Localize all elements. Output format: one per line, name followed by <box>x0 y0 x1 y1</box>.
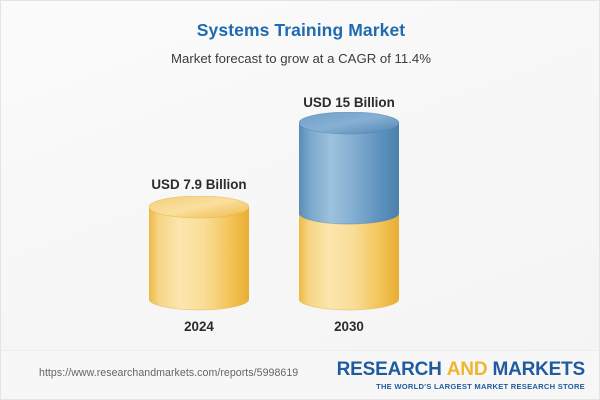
axis-label-2030: 2030 <box>274 319 424 334</box>
brand-logo-part-and: AND <box>447 359 488 380</box>
chart-plot-area: USD 7.9 Billion <box>1 1 600 351</box>
bar-value-label-2024: USD 7.9 Billion <box>124 177 274 192</box>
footer: https://www.researchandmarkets.com/repor… <box>1 350 600 399</box>
brand-logo-tagline: THE WORLD'S LARGEST MARKET RESEARCH STOR… <box>337 383 585 391</box>
bar-group-2030: USD 15 Billion <box>274 1 424 351</box>
axis-label-2024: 2024 <box>124 319 274 334</box>
bar-cylinder-2024[interactable] <box>149 196 249 314</box>
bar-group-2024: USD 7.9 Billion <box>124 1 274 351</box>
bar-value-label-2030: USD 15 Billion <box>274 95 424 110</box>
brand-logo-wordmark: RESEARCH AND MARKETS <box>337 360 585 379</box>
bar-cylinder-2030[interactable] <box>299 112 399 314</box>
cylinder-2030-svg <box>299 112 399 314</box>
chart-card: Systems Training Market Market forecast … <box>0 0 600 400</box>
report-url-link[interactable]: https://www.researchandmarkets.com/repor… <box>39 367 298 379</box>
brand-logo-part-research: RESEARCH <box>337 359 442 380</box>
brand-logo[interactable]: RESEARCH AND MARKETS THE WORLD'S LARGEST… <box>337 360 585 391</box>
brand-logo-part-markets: MARKETS <box>492 359 585 380</box>
cylinder-2024-svg <box>149 196 249 314</box>
